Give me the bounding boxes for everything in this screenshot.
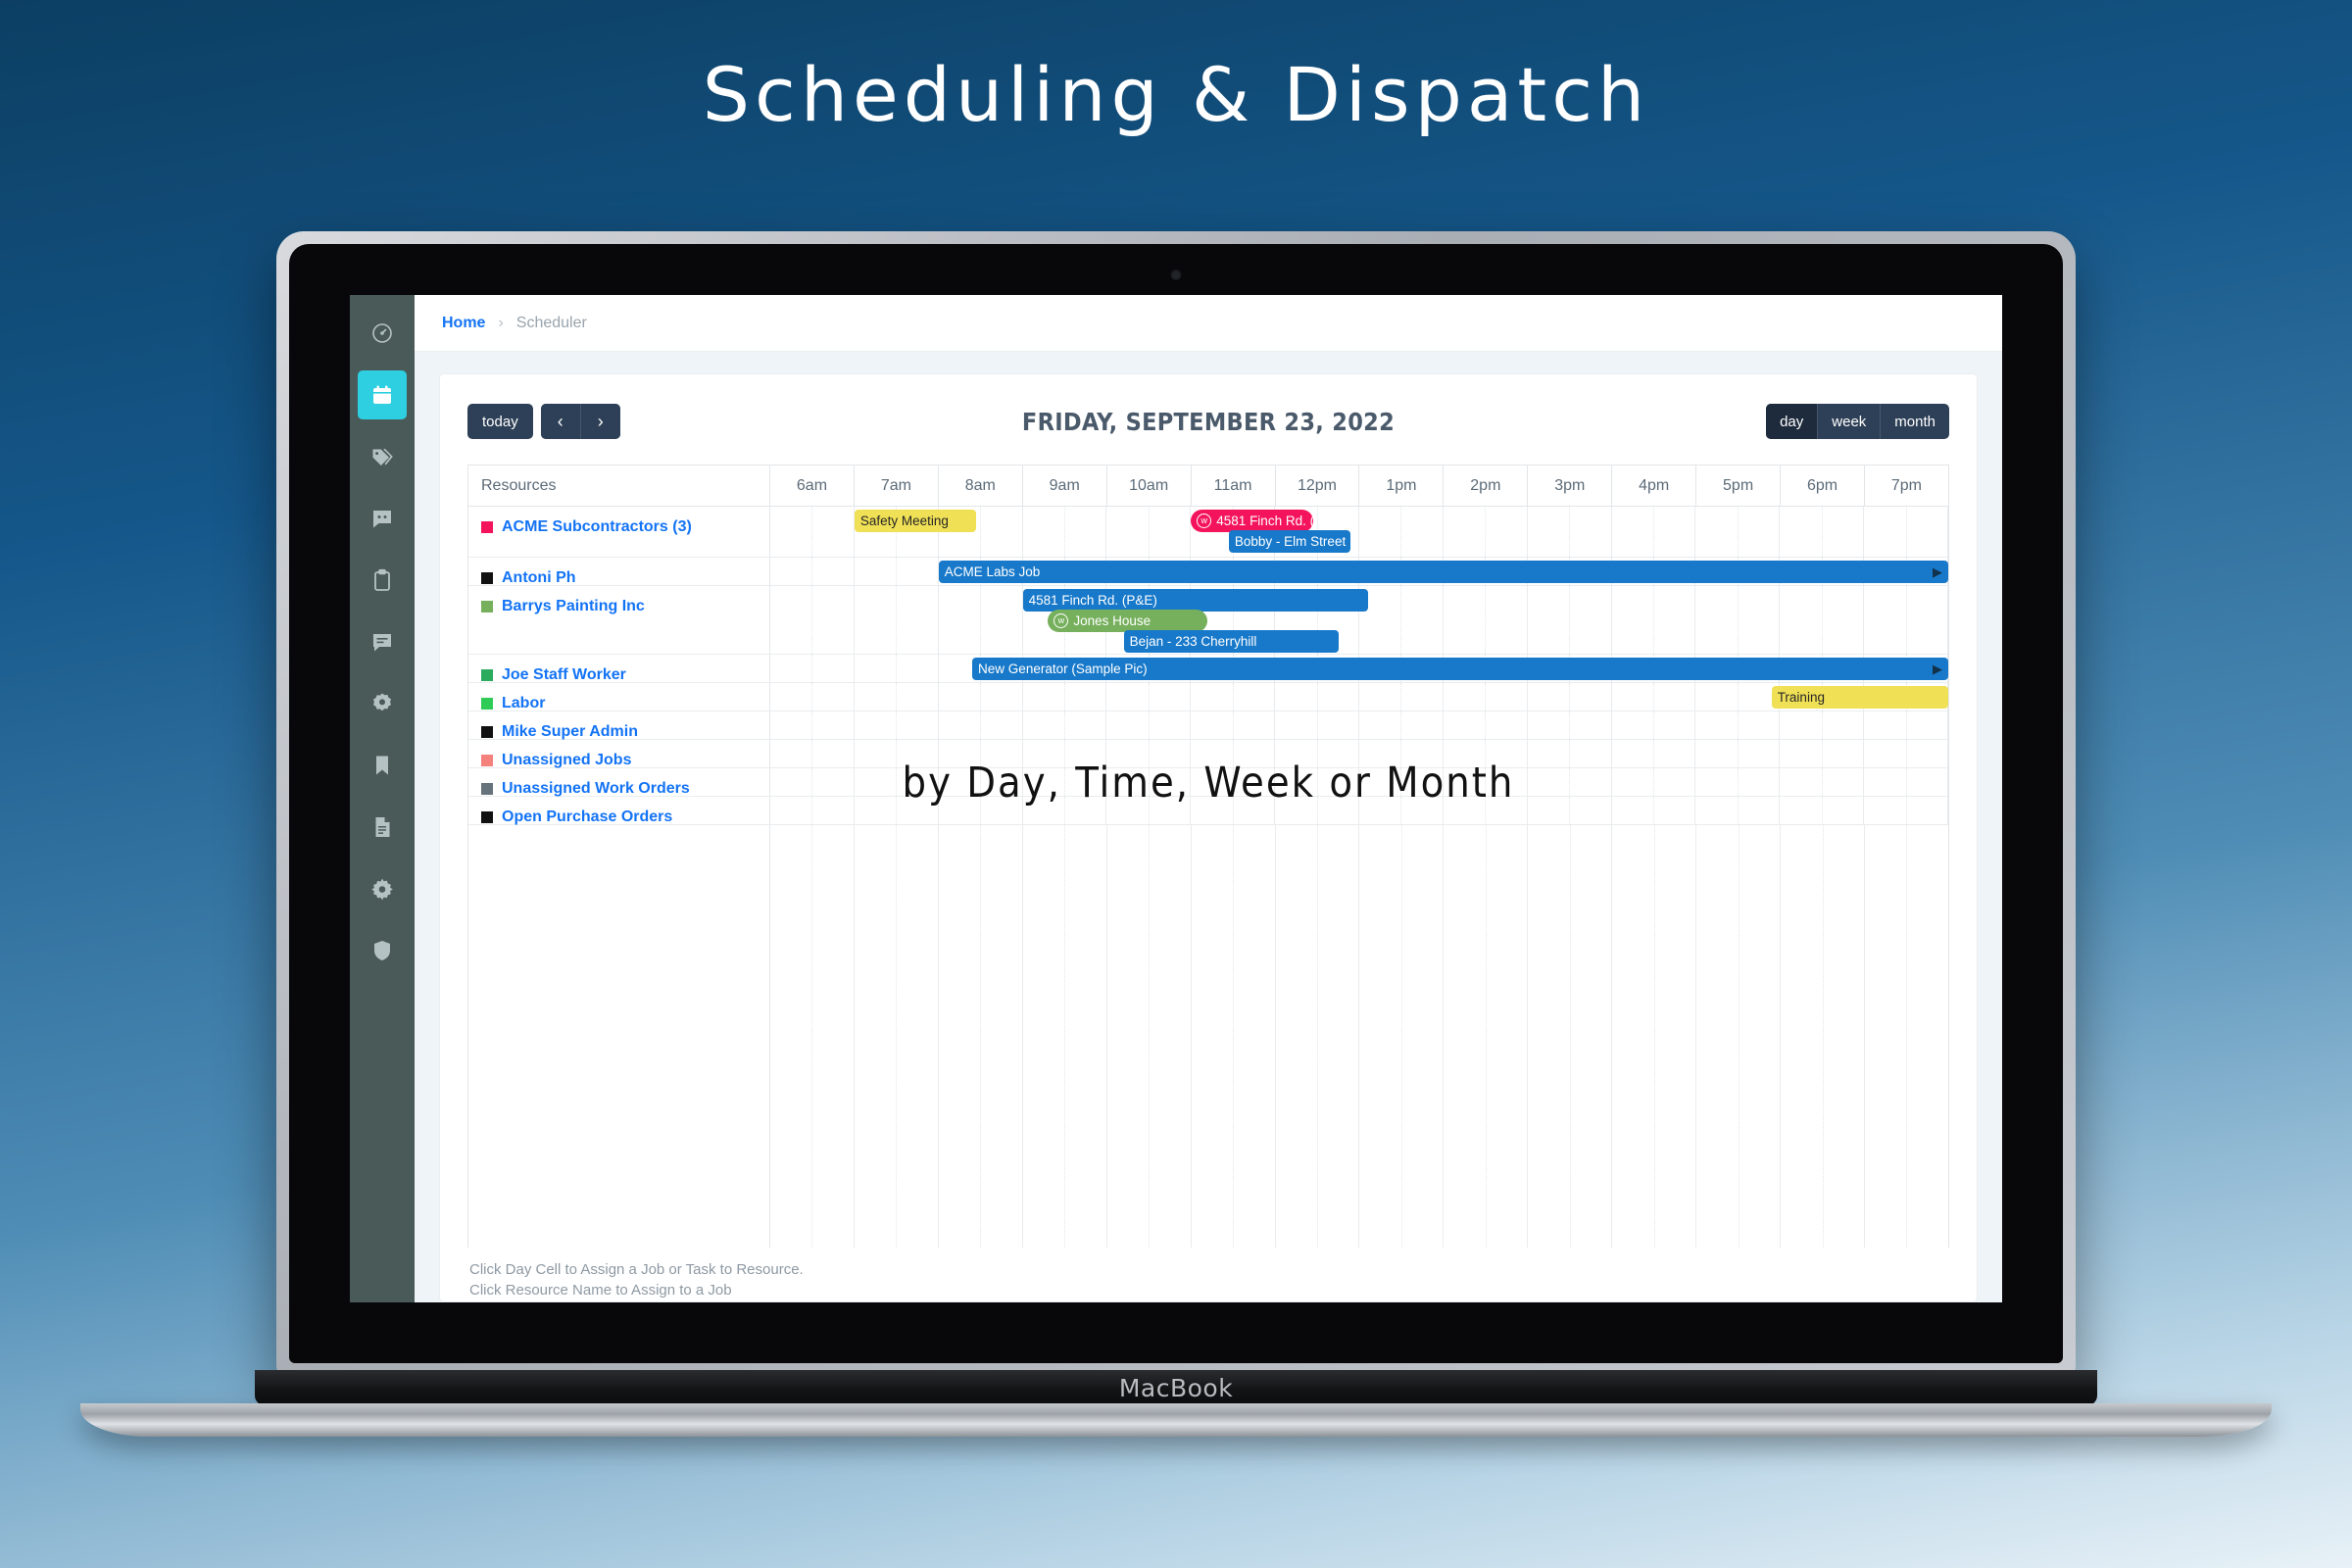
resource-row: LaborTraining	[468, 683, 1948, 711]
day-cell-1pm[interactable]	[1359, 768, 1444, 796]
day-cell-11am[interactable]	[1191, 797, 1275, 824]
day-cell-1pm[interactable]	[1359, 711, 1444, 739]
calendar-title: FRIDAY, SEPTEMBER 23, 2022	[467, 408, 1949, 436]
empty-time-cells	[770, 825, 1948, 1248]
day-cell-5pm[interactable]	[1695, 768, 1780, 796]
day-cell-1pm[interactable]	[1359, 797, 1444, 824]
continues-right-arrow-icon: ▶	[1933, 662, 1942, 675]
day-cell-11am[interactable]	[1191, 768, 1275, 796]
bookmark-icon	[370, 754, 394, 777]
work-order-badge-icon: w	[1197, 514, 1211, 528]
day-cell-6am[interactable]	[770, 711, 855, 739]
resource-row: Joe Staff WorkerNew Generator (Sample Pi…	[468, 655, 1948, 683]
day-cell-2pm[interactable]	[1444, 740, 1528, 767]
scheduler-footer: Click Day Cell to Assign a Job or Task t…	[467, 1248, 1949, 1302]
clipboard-icon	[370, 568, 394, 592]
day-cell-3pm[interactable]	[1528, 740, 1612, 767]
day-cell-9am[interactable]	[1023, 507, 1107, 557]
day-cell-7am[interactable]	[855, 768, 939, 796]
day-cell-9am[interactable]	[1023, 768, 1107, 796]
macbook-label: MacBook	[1119, 1374, 1233, 1402]
resource-row: Open Purchase Orders	[468, 797, 1948, 825]
time-header-6pm: 6pm	[1781, 465, 1865, 506]
resource-color-swatch	[481, 698, 493, 710]
day-cell-10am[interactable]	[1106, 711, 1191, 739]
resource-color-swatch	[481, 521, 493, 533]
document-icon	[370, 815, 394, 839]
time-header-11am: 11am	[1192, 465, 1276, 506]
resource-cell[interactable]: Barrys Painting Inc	[468, 586, 770, 654]
resource-name-link[interactable]: Barrys Painting Inc	[502, 597, 645, 615]
day-cell-7pm[interactable]	[1864, 586, 1948, 654]
day-cell-6pm[interactable]	[1780, 507, 1864, 557]
resource-timeline	[770, 740, 1948, 767]
event-title: 4581 Finch Rd. (P&E)	[1029, 593, 1157, 608]
day-cell-6am[interactable]	[770, 768, 855, 796]
day-cell-8am[interactable]	[939, 683, 1023, 710]
day-cell-6am[interactable]	[770, 586, 855, 654]
day-cell-6am[interactable]	[770, 683, 855, 710]
breadcrumb-current: Scheduler	[516, 315, 587, 332]
resource-row: Antoni PhACME Labs Job▶	[468, 558, 1948, 586]
sidebar-item-certifications[interactable]	[358, 679, 407, 728]
event-block[interactable]: Bobby - Elm Street Plaza	[1229, 530, 1350, 553]
day-cell-7am[interactable]	[855, 558, 939, 585]
time-header-7am: 7am	[855, 465, 939, 506]
shield-icon	[370, 939, 394, 962]
empty-cell-3pm[interactable]	[1528, 825, 1612, 1248]
day-cell-6am[interactable]	[770, 558, 855, 585]
empty-resource-column	[468, 825, 770, 1248]
day-cell-6am[interactable]	[770, 507, 855, 557]
empty-cell-9am[interactable]	[1023, 825, 1107, 1248]
day-cell-6pm[interactable]	[1780, 797, 1864, 824]
day-cell-1pm[interactable]	[1359, 740, 1444, 767]
event-title: Training	[1778, 690, 1825, 705]
day-cell-6am[interactable]	[770, 797, 855, 824]
day-cell-9am[interactable]	[1023, 683, 1107, 710]
day-cell-12pm[interactable]	[1275, 797, 1359, 824]
calendar-icon	[370, 383, 394, 407]
resource-cell[interactable]: ACME Subcontractors (3)	[468, 507, 770, 557]
day-cell-8am[interactable]	[939, 797, 1023, 824]
day-cell-4pm[interactable]	[1612, 711, 1696, 739]
day-cell-2pm[interactable]	[1444, 586, 1528, 654]
continues-right-arrow-icon: ▶	[1933, 565, 1942, 578]
day-cell-5pm[interactable]	[1695, 586, 1780, 654]
day-cell-2pm[interactable]	[1444, 768, 1528, 796]
resource-row: ACME Subcontractors (3)Safety Meetingw45…	[468, 507, 1948, 558]
sidebar-item-documents[interactable]	[358, 803, 407, 852]
time-header-2pm: 2pm	[1444, 465, 1528, 506]
resource-timeline: Safety Meetingw4581 Finch Rd. (P&E)Bobby…	[770, 507, 1948, 557]
event-block[interactable]: New Generator (Sample Pic)▶	[972, 658, 1948, 680]
resource-name-link[interactable]: Mike Super Admin	[502, 722, 638, 741]
resource-color-swatch	[481, 601, 493, 612]
day-cell-12pm[interactable]	[1275, 711, 1359, 739]
tags-icon	[370, 445, 394, 468]
day-cell-8am[interactable]	[939, 711, 1023, 739]
resource-timeline: New Generator (Sample Pic)▶	[770, 655, 1948, 682]
event-title: 4581 Finch Rd. (P&E)	[1216, 514, 1312, 528]
day-cell-2pm[interactable]	[1444, 797, 1528, 824]
time-axis-header: 6am7am8am9am10am11am12pm1pm2pm3pm4pm5pm6…	[770, 465, 1948, 506]
day-cell-7pm[interactable]	[1864, 768, 1948, 796]
hero-title: Scheduling & Dispatch	[0, 51, 2352, 138]
sidebar-item-bookmarks[interactable]	[358, 741, 407, 790]
resource-name-link[interactable]: ACME Subcontractors (3)	[502, 517, 692, 536]
empty-cell-7am[interactable]	[855, 825, 939, 1248]
time-header-4pm: 4pm	[1612, 465, 1696, 506]
sidebar-item-settings[interactable]	[358, 864, 407, 913]
work-order-badge-icon: w	[1053, 613, 1068, 628]
time-header-1pm: 1pm	[1359, 465, 1444, 506]
day-cell-4pm[interactable]	[1612, 586, 1696, 654]
resource-cell[interactable]: Antoni Ph	[468, 558, 770, 585]
resource-cell[interactable]: Unassigned Jobs	[468, 740, 770, 767]
day-cell-8am[interactable]	[939, 740, 1023, 767]
resource-name-link[interactable]: Unassigned Work Orders	[502, 779, 690, 798]
resource-cell[interactable]: Open Purchase Orders	[468, 797, 770, 824]
day-cell-6pm[interactable]	[1780, 768, 1864, 796]
webcam-icon	[1171, 269, 1182, 280]
day-cell-11am[interactable]	[1191, 740, 1275, 767]
day-cell-7am[interactable]	[855, 711, 939, 739]
resource-timeline	[770, 768, 1948, 796]
time-header-5pm: 5pm	[1696, 465, 1781, 506]
empty-cell-11am[interactable]	[1192, 825, 1276, 1248]
sidebar-item-security[interactable]	[358, 926, 407, 975]
resource-row: Unassigned Work Orders	[468, 768, 1948, 797]
event-block[interactable]: w4581 Finch Rd. (P&E)	[1191, 510, 1312, 532]
app-main: Home › Scheduler today ‹ ›	[415, 295, 2002, 1302]
day-cell-7pm[interactable]	[1864, 740, 1948, 767]
event-block[interactable]: wJones House	[1048, 610, 1207, 632]
sidebar-item-scheduler[interactable]	[358, 370, 407, 419]
time-header-8am: 8am	[939, 465, 1023, 506]
event-title: Bejan - 233 Cherryhill	[1130, 634, 1257, 649]
day-cell-7pm[interactable]	[1864, 711, 1948, 739]
resource-cell[interactable]: Mike Super Admin	[468, 711, 770, 739]
resource-name-link[interactable]: Labor	[502, 694, 545, 712]
day-cell-4pm[interactable]	[1612, 507, 1696, 557]
footer-line-2: Click Resource Name to Assign to a Job	[469, 1280, 1949, 1301]
day-cell-1pm[interactable]	[1359, 683, 1444, 710]
day-cell-6pm[interactable]	[1780, 586, 1864, 654]
day-cell-9am[interactable]	[1023, 740, 1107, 767]
day-cell-5pm[interactable]	[1695, 711, 1780, 739]
breadcrumb-separator-icon: ›	[498, 315, 503, 332]
day-cell-10am[interactable]	[1106, 740, 1191, 767]
time-header-6am: 6am	[770, 465, 855, 506]
event-title: ACME Labs Job	[945, 564, 1041, 579]
sidebar-item-tags[interactable]	[358, 432, 407, 481]
day-cell-3pm[interactable]	[1528, 586, 1612, 654]
day-cell-11am[interactable]	[1191, 711, 1275, 739]
scheduler-header-row: Resources 6am7am8am9am10am11am12pm1pm2pm…	[468, 465, 1948, 507]
empty-cell-4pm[interactable]	[1612, 825, 1696, 1248]
macbook-mockup: Home › Scheduler today ‹ ›	[276, 231, 2076, 1397]
resource-name-link[interactable]: Open Purchase Orders	[502, 808, 672, 826]
day-cell-6pm[interactable]	[1780, 740, 1864, 767]
event-block[interactable]: Bejan - 233 Cherryhill	[1124, 630, 1339, 653]
event-title: Jones House	[1073, 613, 1151, 628]
empty-cell-7pm[interactable]	[1865, 825, 1948, 1248]
time-header-10am: 10am	[1107, 465, 1192, 506]
resource-timeline: Training	[770, 683, 1948, 710]
day-cell-6am[interactable]	[770, 655, 855, 682]
day-cell-1pm[interactable]	[1359, 507, 1444, 557]
laptop-base: MacBook	[255, 1370, 2097, 1405]
empty-cell-10am[interactable]	[1107, 825, 1192, 1248]
resource-cell[interactable]: Labor	[468, 683, 770, 710]
day-cell-4pm[interactable]	[1612, 768, 1696, 796]
sidebar-item-work-orders[interactable]	[358, 556, 407, 605]
resource-color-swatch	[481, 669, 493, 681]
day-cell-2pm[interactable]	[1444, 683, 1528, 710]
day-cell-4pm[interactable]	[1612, 740, 1696, 767]
scheduler-card: today ‹ › FRIDAY, SEPTEMBER 23, 2022 day…	[439, 373, 1978, 1302]
scheduler-grid: Resources 6am7am8am9am10am11am12pm1pm2pm…	[467, 465, 1949, 1301]
day-cell-4pm[interactable]	[1612, 797, 1696, 824]
day-cell-12pm[interactable]	[1275, 683, 1359, 710]
resource-rows: ACME Subcontractors (3)Safety Meetingw45…	[468, 507, 1948, 825]
event-block[interactable]: 4581 Finch Rd. (P&E)	[1023, 589, 1368, 612]
event-block[interactable]: Safety Meeting	[855, 510, 976, 532]
day-cell-11am[interactable]	[1191, 683, 1275, 710]
day-cell-3pm[interactable]	[1528, 711, 1612, 739]
time-header-12pm: 12pm	[1276, 465, 1360, 506]
time-header-3pm: 3pm	[1528, 465, 1612, 506]
resource-timeline: ACME Labs Job▶	[770, 558, 1948, 585]
comment-icon	[370, 630, 394, 654]
laptop-lid: Home › Scheduler today ‹ ›	[276, 231, 2076, 1376]
resource-color-swatch	[481, 783, 493, 795]
day-cell-8am[interactable]	[939, 586, 1023, 654]
sidebar-item-comments[interactable]	[358, 617, 407, 666]
day-cell-2pm[interactable]	[1444, 711, 1528, 739]
app-screen: Home › Scheduler today ‹ ›	[350, 295, 2002, 1302]
scheduler-table: Resources 6am7am8am9am10am11am12pm1pm2pm…	[467, 465, 1949, 825]
day-cell-2pm[interactable]	[1444, 507, 1528, 557]
scheduler-toolbar: today ‹ › FRIDAY, SEPTEMBER 23, 2022 day…	[467, 400, 1949, 443]
resource-name-link[interactable]: Joe Staff Worker	[502, 665, 626, 684]
time-header-9am: 9am	[1023, 465, 1107, 506]
day-cell-9am[interactable]	[1023, 711, 1107, 739]
resource-color-swatch	[481, 811, 493, 823]
empty-cell-1pm[interactable]	[1359, 825, 1444, 1248]
event-title: Safety Meeting	[860, 514, 949, 528]
breadcrumb-home-link[interactable]: Home	[442, 315, 485, 332]
empty-cell-8am[interactable]	[939, 825, 1023, 1248]
breadcrumb: Home › Scheduler	[415, 295, 2002, 352]
resource-timeline: 4581 Finch Rd. (P&E)wJones HouseBejan - …	[770, 586, 1948, 654]
empty-cell-6pm[interactable]	[1781, 825, 1865, 1248]
day-cell-10am[interactable]	[1106, 507, 1191, 557]
gear-icon	[370, 877, 394, 901]
day-cell-6pm[interactable]	[1780, 711, 1864, 739]
day-cell-3pm[interactable]	[1528, 768, 1612, 796]
day-cell-12pm[interactable]	[1275, 768, 1359, 796]
resource-cell[interactable]: Unassigned Work Orders	[468, 768, 770, 796]
footer-line-1: Click Day Cell to Assign a Job or Task t…	[469, 1259, 1949, 1281]
day-cell-4pm[interactable]	[1612, 683, 1696, 710]
resource-name-link[interactable]: Unassigned Jobs	[502, 751, 631, 769]
empty-cell-6am[interactable]	[770, 825, 855, 1248]
empty-grid-area[interactable]	[467, 825, 1949, 1248]
day-cell-7am[interactable]	[855, 797, 939, 824]
empty-cell-2pm[interactable]	[1444, 825, 1528, 1248]
day-cell-5pm[interactable]	[1695, 740, 1780, 767]
gauge-icon	[370, 321, 394, 345]
day-cell-1pm[interactable]	[1359, 586, 1444, 654]
day-cell-5pm[interactable]	[1695, 507, 1780, 557]
resource-color-swatch	[481, 755, 493, 766]
resource-row: Barrys Painting Inc4581 Finch Rd. (P&E)w…	[468, 586, 1948, 655]
time-header-7pm: 7pm	[1865, 465, 1948, 506]
day-cell-8am[interactable]	[939, 768, 1023, 796]
event-block[interactable]: Training	[1772, 686, 1948, 709]
laptop-foot	[80, 1403, 2272, 1437]
day-cell-7am[interactable]	[855, 683, 939, 710]
day-cell-12pm[interactable]	[1275, 740, 1359, 767]
resources-column-header: Resources	[468, 465, 770, 506]
day-cell-3pm[interactable]	[1528, 507, 1612, 557]
resource-row: Mike Super Admin	[468, 711, 1948, 740]
day-cell-3pm[interactable]	[1528, 797, 1612, 824]
resource-timeline	[770, 711, 1948, 739]
resource-color-swatch	[481, 726, 493, 738]
event-title: Bobby - Elm Street Plaza	[1235, 534, 1350, 549]
content-area: today ‹ › FRIDAY, SEPTEMBER 23, 2022 day…	[415, 352, 2002, 1302]
day-cell-7am[interactable]	[855, 586, 939, 654]
resource-cell[interactable]: Joe Staff Worker	[468, 655, 770, 682]
day-cell-7am[interactable]	[855, 740, 939, 767]
day-cell-10am[interactable]	[1106, 797, 1191, 824]
resource-name-link[interactable]: Antoni Ph	[502, 568, 576, 587]
day-cell-5pm[interactable]	[1695, 797, 1780, 824]
event-title: New Generator (Sample Pic)	[978, 661, 1148, 676]
resource-timeline	[770, 797, 1948, 824]
day-cell-6am[interactable]	[770, 740, 855, 767]
empty-cell-5pm[interactable]	[1696, 825, 1781, 1248]
day-cell-7pm[interactable]	[1864, 797, 1948, 824]
app-sidebar	[350, 295, 415, 1302]
day-cell-7am[interactable]	[855, 655, 939, 682]
day-cell-10am[interactable]	[1106, 768, 1191, 796]
day-cell-10am[interactable]	[1106, 683, 1191, 710]
chat-box-icon	[370, 507, 394, 530]
event-block[interactable]: ACME Labs Job▶	[939, 561, 1948, 583]
empty-cell-12pm[interactable]	[1276, 825, 1360, 1248]
resource-color-swatch	[481, 572, 493, 584]
event-layer: ACME Labs Job▶	[770, 558, 1948, 585]
resource-row: Unassigned Jobs	[468, 740, 1948, 768]
day-cell-5pm[interactable]	[1695, 683, 1780, 710]
day-cell-3pm[interactable]	[1528, 683, 1612, 710]
sidebar-item-messages[interactable]	[358, 494, 407, 543]
sidebar-item-dashboard[interactable]	[358, 309, 407, 358]
day-cell-7pm[interactable]	[1864, 507, 1948, 557]
laptop-bezel: Home › Scheduler today ‹ ›	[289, 244, 2063, 1363]
day-cell-9am[interactable]	[1023, 797, 1107, 824]
badge-icon	[370, 692, 394, 715]
